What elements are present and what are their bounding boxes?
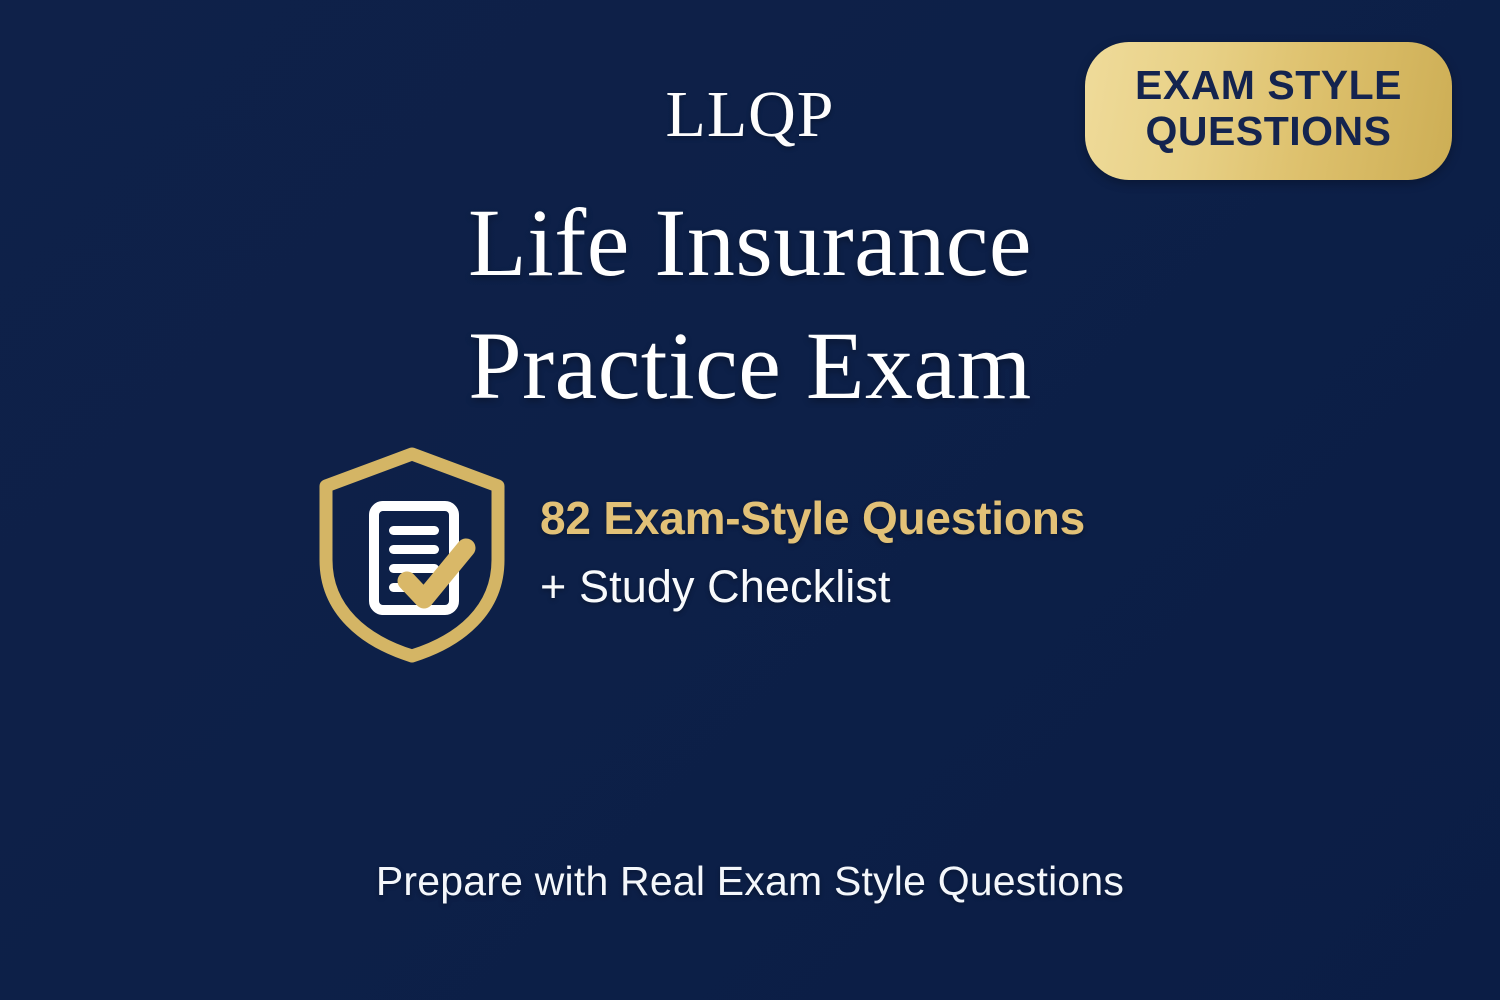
page-title: Life Insurance Practice Exam xyxy=(0,182,1500,428)
shield-document-check-icon xyxy=(312,440,512,670)
feature-copy: 82 Exam-Style Questions + Study Checklis… xyxy=(540,491,1085,618)
study-checklist-label: + Study Checklist xyxy=(540,560,1085,613)
title-line-2: Practice Exam xyxy=(0,305,1500,428)
feature-highlight: 82 Exam-Style Questions + Study Checklis… xyxy=(312,440,1212,670)
question-count-label: 82 Exam-Style Questions xyxy=(540,491,1085,545)
poster-canvas: EXAM STYLE QUESTIONS LLQP Life Insurance… xyxy=(0,0,1500,1000)
footer-tagline: Prepare with Real Exam Style Questions xyxy=(0,857,1500,906)
title-line-1: Life Insurance xyxy=(0,182,1500,305)
eyebrow-llqp: LLQP xyxy=(0,82,1500,148)
